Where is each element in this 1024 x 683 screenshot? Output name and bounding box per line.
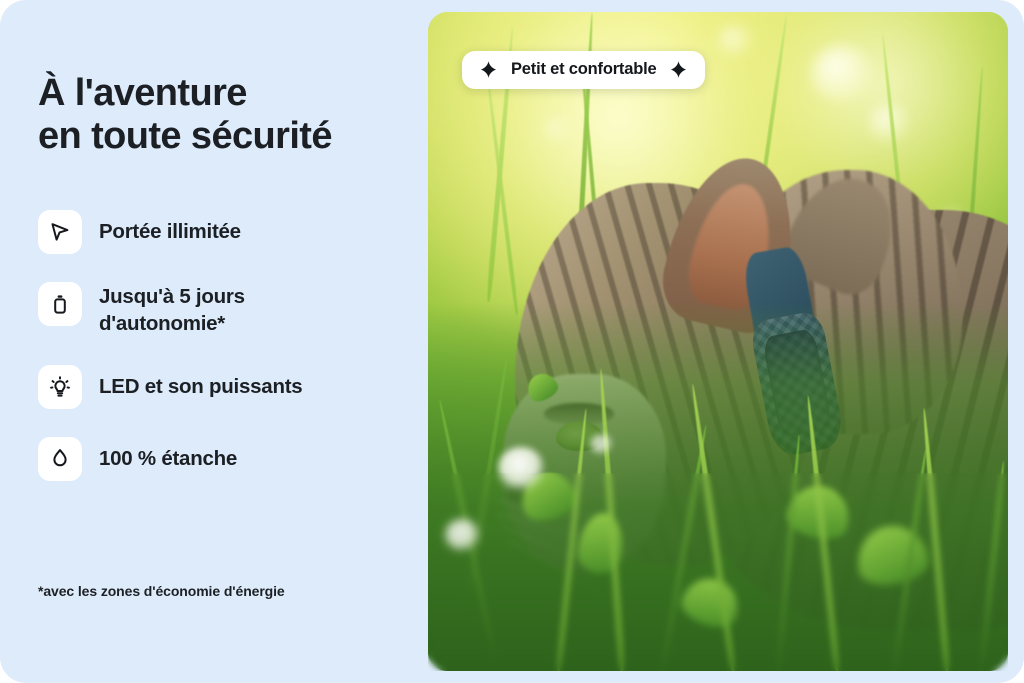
battery-icon <box>38 282 82 326</box>
feature-item-waterproof: 100 % étanche <box>38 437 394 481</box>
feature-item-range: Portée illimitée <box>38 210 394 254</box>
sparkle-icon <box>479 60 498 79</box>
daisy-flower <box>590 434 612 454</box>
feature-label: 100 % étanche <box>99 437 237 472</box>
feature-label: Portée illimitée <box>99 210 241 245</box>
daisy-flower <box>498 447 544 489</box>
product-photo: Petit et confortable <box>428 12 1008 671</box>
info-panel: À l'aventure en toute sécurité Portée il… <box>0 0 428 683</box>
feature-label: Jusqu'à 5 jours d'autonomie* <box>99 282 245 337</box>
water-droplet-icon <box>38 437 82 481</box>
page-title: À l'aventure en toute sécurité <box>38 72 394 158</box>
status-badge[interactable]: Petit et confortable <box>462 51 705 89</box>
meadow-scene <box>428 12 1008 671</box>
media-panel: Petit et confortable <box>428 0 1024 683</box>
feature-item-led-sound: LED et son puissants <box>38 365 394 409</box>
feature-list: Portée illimitée Jusqu'à 5 jours d'auton… <box>38 210 394 481</box>
promo-card: À l'aventure en toute sécurité Portée il… <box>0 0 1024 683</box>
status-badge-label: Petit et confortable <box>511 60 656 79</box>
cursor-arrow-icon <box>38 210 82 254</box>
feature-label: LED et son puissants <box>99 365 302 400</box>
sparkle-icon <box>669 60 688 79</box>
bokeh-highlight <box>718 25 752 57</box>
lightbulb-icon <box>38 365 82 409</box>
footnote: *avec les zones d'économie d'énergie <box>38 583 285 599</box>
feature-item-battery: Jusqu'à 5 jours d'autonomie* <box>38 282 394 337</box>
bokeh-highlight <box>811 45 873 103</box>
